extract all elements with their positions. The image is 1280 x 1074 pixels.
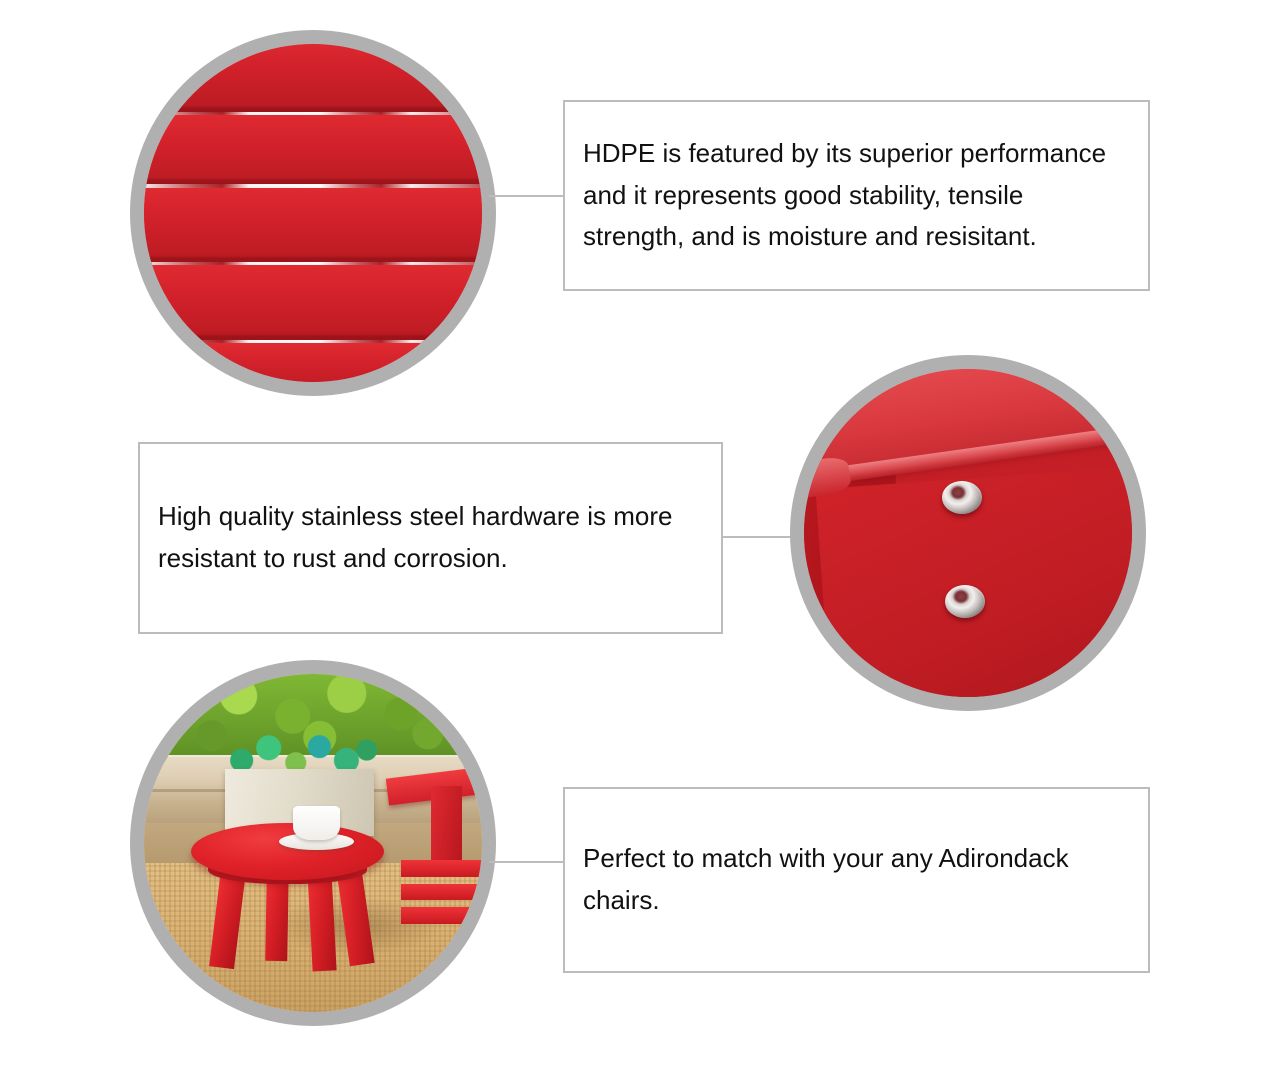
infographic-canvas: HDPE is featured by its superior perform… <box>0 0 1280 1074</box>
adirondack-chair-slat <box>401 860 482 877</box>
outdoor-lifestyle-photo <box>144 674 482 1012</box>
hardware-closeup-photo <box>804 369 1132 697</box>
connector-line-hdpe <box>489 195 565 197</box>
callout-box-hdpe: HDPE is featured by its superior perform… <box>563 100 1150 291</box>
feature-image-stainless-hardware <box>790 355 1146 711</box>
adirondack-chair-slat <box>401 907 482 924</box>
medallion-inner-hardware <box>804 369 1132 697</box>
callout-text-hdpe: HDPE is featured by its superior perform… <box>565 133 1148 258</box>
red-hdpe-slat-photo <box>144 44 482 382</box>
callout-text-hardware: High quality stainless steel hardware is… <box>140 496 721 579</box>
feature-image-lifestyle-table <box>130 660 496 1026</box>
adirondack-chair-slat <box>401 884 482 901</box>
connector-line-match <box>489 861 565 863</box>
connector-line-hardware <box>721 536 793 538</box>
stainless-bolt-icon-upper <box>942 481 982 514</box>
feature-image-hdpe-slats <box>130 30 496 396</box>
callout-box-match: Perfect to match with your any Adirondac… <box>563 787 1150 973</box>
white-coffee-cup <box>293 806 340 840</box>
red-round-table-top <box>191 823 384 880</box>
callout-box-hardware: High quality stainless steel hardware is… <box>138 442 723 634</box>
medallion-inner-hdpe <box>144 44 482 382</box>
table-leg <box>307 869 336 971</box>
callout-text-match: Perfect to match with your any Adirondac… <box>565 838 1148 921</box>
medallion-inner-lifestyle <box>144 674 482 1012</box>
table-leg <box>265 870 289 962</box>
